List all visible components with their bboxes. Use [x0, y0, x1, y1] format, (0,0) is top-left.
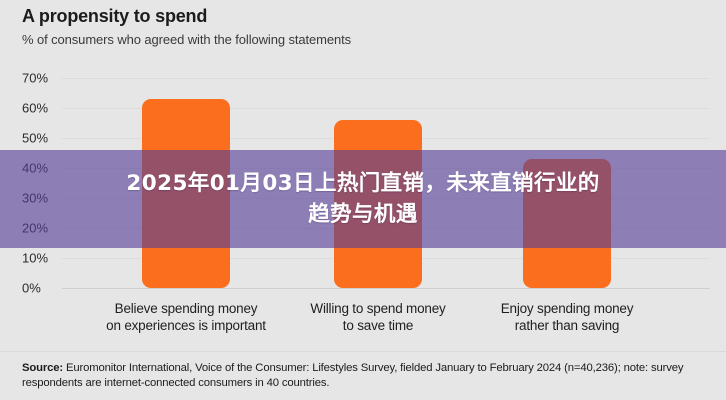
x-axis-labels: Believe spending moneyon experiences is … — [0, 300, 726, 350]
bar — [334, 120, 422, 288]
x-axis-category-label-line: rather than saving — [467, 317, 667, 334]
page-title: A propensity to spend — [22, 6, 207, 27]
infographic-root: A propensity to spend % of consumers who… — [0, 0, 726, 400]
gridline — [62, 78, 710, 79]
chart-subtitle: % of consumers who agreed with the follo… — [22, 32, 351, 47]
y-axis-tick-label: 40% — [22, 161, 48, 176]
y-axis-tick-label: 10% — [22, 251, 48, 266]
x-axis-category-label: Believe spending moneyon experiences is … — [86, 300, 286, 334]
y-axis-tick-label: 70% — [22, 71, 48, 86]
footer-area: Source: Euromonitor International, Voice… — [0, 352, 726, 400]
bar — [142, 99, 230, 288]
x-axis-category-label-line: Willing to spend money — [278, 300, 478, 317]
source-text: Euromonitor International, Voice of the … — [22, 362, 683, 389]
y-axis-tick-label: 20% — [22, 221, 48, 236]
axis-baseline — [62, 288, 710, 289]
source-note: Source: Euromonitor International, Voice… — [22, 361, 710, 391]
bar — [523, 159, 611, 288]
y-axis-tick-label: 50% — [22, 131, 48, 146]
x-axis-category-label-line: Believe spending money — [86, 300, 286, 317]
x-axis-category-label: Enjoy spending moneyrather than saving — [467, 300, 667, 334]
y-axis-tick-label: 30% — [22, 191, 48, 206]
source-label: Source: — [22, 362, 63, 374]
x-axis-category-label-line: Enjoy spending money — [467, 300, 667, 317]
y-axis-tick-label: 0% — [22, 281, 41, 296]
x-axis-category-label-line: on experiences is important — [86, 317, 286, 334]
x-axis-category-label-line: to save time — [278, 317, 478, 334]
x-axis-category-label: Willing to spend moneyto save time — [278, 300, 478, 334]
chart-plot-area: 70%60%50%40%30%20%10%0% — [0, 60, 726, 310]
y-axis-tick-label: 60% — [22, 101, 48, 116]
